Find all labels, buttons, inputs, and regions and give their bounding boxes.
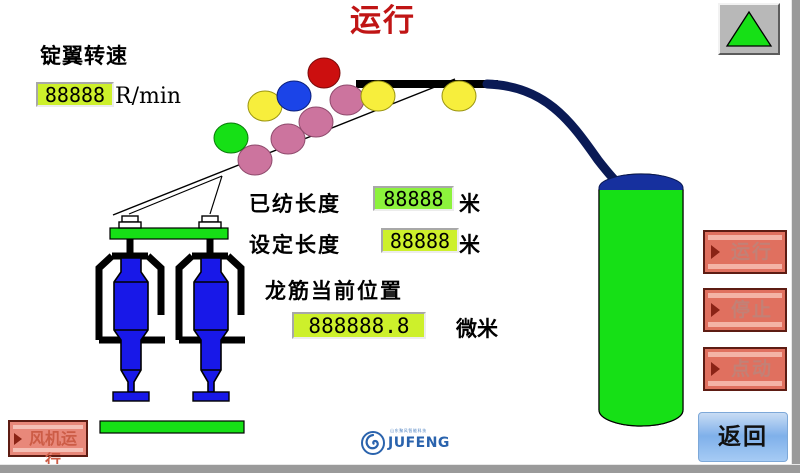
rib-position-value: 888888.8 (292, 312, 426, 339)
jog-button[interactable]: 点动 (703, 347, 787, 391)
roller-red (308, 58, 340, 88)
rib-position-unit: 微米 (456, 313, 498, 343)
roller-pink4 (330, 85, 364, 115)
play-arrow-icon (711, 303, 720, 317)
scroll-up-button[interactable] (718, 3, 780, 55)
run-button-label: 运行 (723, 239, 781, 265)
yarn-path (487, 84, 623, 188)
jog-button-label: 点动 (723, 356, 781, 382)
roller-pink1 (238, 145, 272, 175)
roller-green (214, 123, 248, 153)
can-top-ring (599, 174, 683, 202)
set-length-label: 设定长度 (249, 229, 341, 259)
swirl-logo-icon (360, 430, 386, 456)
company-logo-text: JUFENG (388, 435, 450, 451)
play-arrow-icon (14, 433, 22, 445)
play-arrow-icon (711, 245, 720, 259)
roller-pink3 (299, 107, 333, 137)
back-button-label: 返回 (718, 423, 768, 450)
roller-yellow1 (248, 91, 282, 121)
upper-platform (110, 228, 228, 239)
thread-line-right (210, 176, 222, 214)
spun-length-unit: 米 (459, 188, 480, 218)
set-length-unit: 米 (459, 229, 480, 259)
flyer-frame-right (179, 239, 245, 340)
roller-group (214, 58, 476, 175)
rib-position-label: 龙筋当前位置 (265, 275, 403, 305)
set-length-value[interactable]: 88888 (381, 228, 459, 253)
play-arrow-icon (711, 362, 720, 376)
stop-button[interactable]: 停止 (703, 288, 787, 332)
top-rail-bar (356, 80, 498, 88)
roller-pink2 (271, 124, 305, 154)
right-frame-edge (791, 0, 800, 473)
bobbin-right (193, 258, 229, 401)
roller-yellow2 (361, 81, 395, 111)
spindle-cap-right (199, 216, 221, 228)
spindle-speed-unit: R/min (115, 84, 181, 109)
fan-run-button[interactable]: 风机运行 (8, 420, 88, 457)
green-triangle-up-icon (724, 9, 774, 49)
hmi-screen: 运行 锭翼转速 88888 R/min 已纺长度 88888 米 设定长度 88… (0, 0, 800, 473)
stop-button-label: 停止 (723, 297, 781, 323)
roller-yellow3 (442, 81, 476, 111)
spindle-cap-left (119, 216, 141, 228)
run-button[interactable]: 运行 (703, 230, 787, 274)
spindle-speed-label: 锭翼转速 (40, 40, 128, 70)
fan-run-button-label: 风机运行 (22, 428, 84, 450)
spun-length-label: 已纺长度 (249, 188, 341, 218)
company-logo-subtext: 山东聚风智能科技 (390, 428, 427, 434)
flyer-frame-left (99, 239, 165, 340)
spun-length-value: 88888 (373, 186, 454, 211)
lower-platform (100, 421, 244, 433)
back-button[interactable]: 返回 (698, 412, 788, 462)
company-logo: 山东聚风智能科技 JUFENG (360, 428, 460, 456)
spindle-speed-value: 88888 (36, 82, 114, 107)
sliver-can (599, 174, 683, 426)
roller-blue (277, 81, 311, 111)
bottom-frame-edge (0, 464, 800, 473)
page-title: 运行 (318, 2, 448, 40)
bobbin-left (113, 258, 149, 401)
thread-line-left (129, 176, 222, 214)
